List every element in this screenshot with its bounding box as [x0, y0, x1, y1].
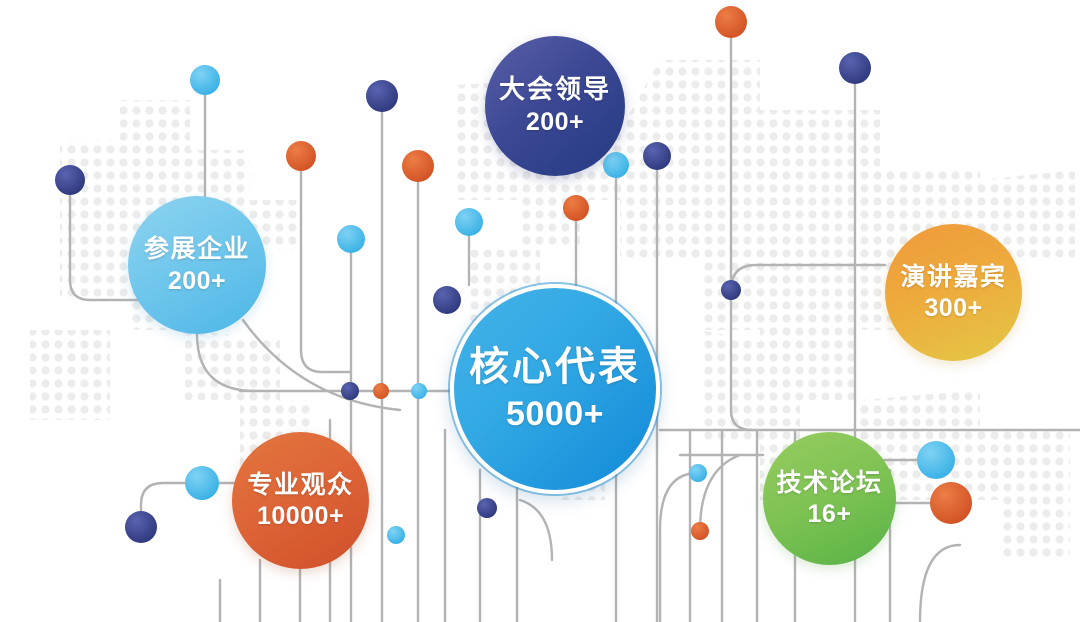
bubble-title: 核心代表	[469, 346, 641, 388]
bubble-value: 200+	[168, 268, 226, 295]
bubble-value: 5000+	[506, 396, 604, 432]
bubble-title: 技术论坛	[776, 470, 882, 497]
metric-bubbles-layer: 参展企业 200+ 大会领导 200+ 演讲嘉宾 300+ 专业观众 10000…	[0, 0, 1080, 622]
bubble-title: 专业观众	[247, 472, 353, 499]
bubble-core-delegates[interactable]: 核心代表 5000+	[450, 284, 660, 494]
bubble-title: 大会领导	[499, 76, 611, 104]
bubble-title: 演讲嘉宾	[900, 264, 1006, 291]
bubble-value: 200+	[526, 109, 584, 136]
infographic-canvas: 参展企业 200+ 大会领导 200+ 演讲嘉宾 300+ 专业观众 10000…	[0, 0, 1080, 622]
bubble-conference-leaders[interactable]: 大会领导 200+	[485, 36, 625, 176]
bubble-keynote-speakers[interactable]: 演讲嘉宾 300+	[885, 224, 1022, 361]
bubble-title: 参展企业	[144, 236, 250, 263]
bubble-value: 300+	[924, 295, 982, 322]
bubble-value: 10000+	[257, 503, 344, 530]
bubble-technical-forums[interactable]: 技术论坛 16+	[763, 432, 896, 565]
bubble-professional-audience[interactable]: 专业观众 10000+	[232, 432, 369, 569]
bubble-exhibiting-companies[interactable]: 参展企业 200+	[128, 196, 266, 334]
bubble-value: 16+	[808, 501, 852, 528]
